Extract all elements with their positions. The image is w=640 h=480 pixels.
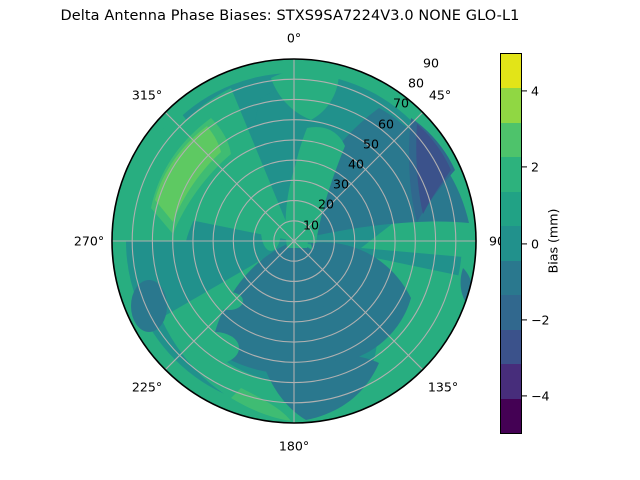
colorbar-tick-mark-4 <box>522 90 527 91</box>
angular-tick-270: 270° <box>74 234 104 249</box>
angular-tick-0: 0° <box>287 31 301 46</box>
colorbar-axis-label: Bias (mm) <box>546 209 561 274</box>
polar-grid-spokes <box>112 59 476 423</box>
colorbar-band-3 <box>501 157 521 191</box>
colorbar-gradient <box>500 53 522 434</box>
radial-tick-50: 50 <box>363 137 379 152</box>
colorbar-band-9 <box>501 364 521 398</box>
angular-tick-45: 45° <box>429 88 451 103</box>
colorbar[interactable]: 4 2 0 −2 −4 <box>500 53 522 434</box>
colorbar-tick-mark-0 <box>522 243 527 244</box>
polar-plot-axes[interactable]: 0° 45° 90 135° 180° 225° 270° 315° 10 20… <box>111 58 477 424</box>
colorbar-band-5 <box>501 226 521 260</box>
radial-tick-60: 60 <box>378 117 394 132</box>
page-title: Delta Antenna Phase Biases: STXS9SA7224V… <box>0 8 580 24</box>
figure-canvas: Delta Antenna Phase Biases: STXS9SA7224V… <box>0 0 640 480</box>
polar-heatmap[interactable] <box>111 58 477 424</box>
colorbar-tick-label-0: 0 <box>531 236 539 251</box>
angular-tick-180: 180° <box>279 439 309 454</box>
colorbar-band-6 <box>501 261 521 295</box>
colorbar-tick-label-minus4: −4 <box>531 388 550 403</box>
colorbar-tick-label-4: 4 <box>531 84 539 99</box>
colorbar-band-0 <box>501 54 521 88</box>
colorbar-band-10 <box>501 399 521 433</box>
radial-tick-30: 30 <box>333 177 349 192</box>
colorbar-tick-label-2: 2 <box>531 160 539 175</box>
radial-tick-70: 70 <box>393 96 409 111</box>
colorbar-tick-mark-minus4 <box>522 395 527 396</box>
radial-tick-40: 40 <box>348 157 364 172</box>
colorbar-band-2 <box>501 123 521 157</box>
angular-tick-135: 135° <box>428 380 458 395</box>
colorbar-tick-label-minus2: −2 <box>531 312 550 327</box>
radial-tick-80: 80 <box>408 76 424 91</box>
radial-tick-20: 20 <box>318 197 334 212</box>
colorbar-tick-mark-2 <box>522 167 527 168</box>
radial-tick-10: 10 <box>303 218 319 233</box>
colorbar-band-1 <box>501 88 521 122</box>
angular-tick-315: 315° <box>132 88 162 103</box>
colorbar-band-4 <box>501 192 521 226</box>
colorbar-tick-mark-minus2 <box>522 319 527 320</box>
colorbar-band-8 <box>501 330 521 364</box>
angular-tick-225: 225° <box>132 380 162 395</box>
colorbar-band-7 <box>501 295 521 329</box>
radial-tick-90: 90 <box>423 56 439 71</box>
